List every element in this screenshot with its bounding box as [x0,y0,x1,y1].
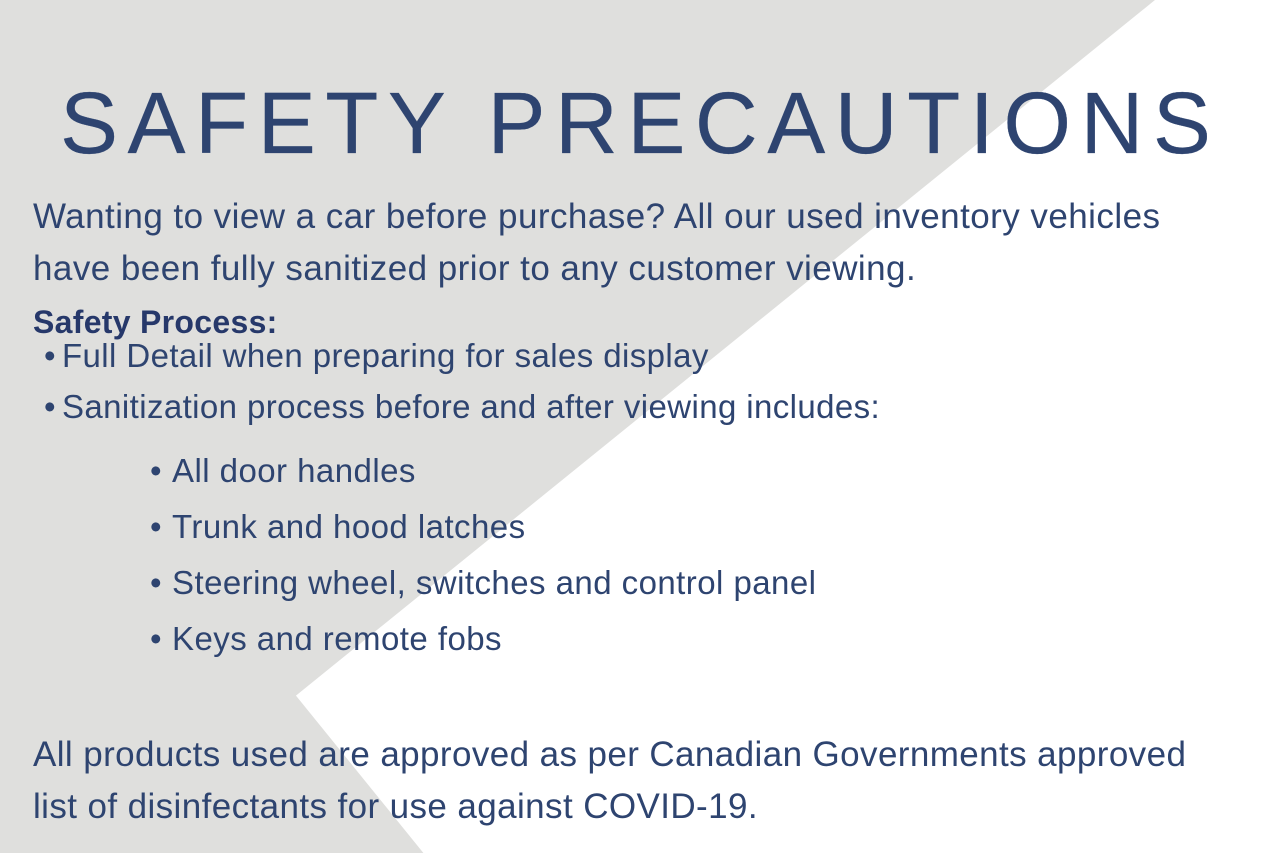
list-item-label: All door handles [172,452,416,489]
list-item-label: Keys and remote fobs [172,620,502,657]
bullet-dot-icon: • [150,499,172,555]
main-bullet-list: •Full Detail when preparing for sales di… [44,330,880,433]
list-item: •Steering wheel, switches and control pa… [150,555,816,611]
list-item-label: Sanitization process before and after vi… [62,388,880,425]
list-item: •Keys and remote fobs [150,611,816,667]
intro-paragraph: Wanting to view a car before purchase? A… [33,191,1208,295]
bullet-dot-icon: • [44,330,62,381]
bullet-dot-icon: • [150,443,172,499]
list-item: •Sanitization process before and after v… [44,381,880,432]
page-title: SAFETY PRECAUTIONS [60,79,1220,169]
bullet-dot-icon: • [44,381,62,432]
bullet-dot-icon: • [150,555,172,611]
list-item-label: Trunk and hood latches [172,508,526,545]
list-item: •All door handles [150,443,816,499]
list-item-label: Full Detail when preparing for sales dis… [62,337,709,374]
bullet-dot-icon: • [150,611,172,667]
sub-bullet-list: •All door handles •Trunk and hood latche… [150,443,816,667]
safety-precautions-poster: SAFETY PRECAUTIONS Wanting to view a car… [0,0,1280,853]
list-item: •Full Detail when preparing for sales di… [44,330,880,381]
list-item: •Trunk and hood latches [150,499,816,555]
outro-paragraph: All products used are approved as per Ca… [33,729,1213,833]
list-item-label: Steering wheel, switches and control pan… [172,564,816,601]
